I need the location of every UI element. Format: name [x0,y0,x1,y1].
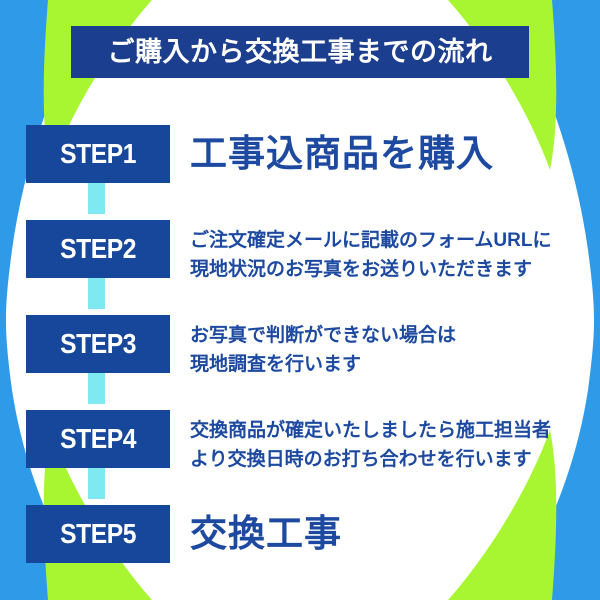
step-row-4: STEP4 交換商品が確定いたしましたら施工担当者 より交換日時のお打ち合わせを… [0,410,600,468]
step-description-line: 現地状況のお写真をお送りいただきます [190,255,551,284]
step-badge-label: STEP5 [60,520,136,548]
step-connector-4-5 [88,467,105,499]
step-badge-1: STEP1 [26,125,170,183]
step-row-5: STEP5 交換工事 [0,505,600,563]
step-description-5: 交換工事 [190,515,342,554]
step-row-1: STEP1 工事込商品を購入 [0,125,600,183]
step-badge-5: STEP5 [26,505,170,563]
step-description-4: 交換商品が確定いたしましたら施工担当者 より交換日時のお打ち合わせを行います [190,416,551,475]
flow-content: ご購入から交換工事までの流れ STEP1 工事込商品を購入 STEP2 ご注文確… [0,0,600,600]
step-description-line: ご注文確定メールに記載のフォームURLに [190,226,551,255]
step-description-2: ご注文確定メールに記載のフォームURLに 現地状況のお写真をお送りいただきます [190,226,551,285]
step-description-line: 交換工事 [190,515,342,554]
page-title: ご購入から交換工事までの流れ [108,39,493,66]
step-description-1: 工事込商品を購入 [190,135,494,174]
step-badge-2: STEP2 [26,220,170,278]
step-badge-label: STEP2 [60,235,136,263]
step-description-3: お写真で判断ができない場合は 現地調査を行います [190,321,456,380]
header-banner: ご購入から交換工事までの流れ [71,26,529,78]
step-connector-2-3 [88,277,105,309]
step-description-line: 現地調査を行います [190,350,456,379]
step-description-line: お写真で判断ができない場合は [190,321,456,350]
step-badge-3: STEP3 [26,315,170,373]
step-badge-label: STEP3 [60,330,136,358]
step-description-line: より交換日時のお打ち合わせを行います [190,445,551,474]
step-row-3: STEP3 お写真で判断ができない場合は 現地調査を行います [0,315,600,373]
purchase-to-installation-flow-infographic: ご購入から交換工事までの流れ STEP1 工事込商品を購入 STEP2 ご注文確… [0,0,600,600]
step-badge-label: STEP1 [60,140,136,168]
step-description-line: 工事込商品を購入 [190,135,494,174]
step-badge-4: STEP4 [26,410,170,468]
step-connector-3-4 [88,372,105,404]
step-connector-1-2 [88,182,105,214]
step-row-2: STEP2 ご注文確定メールに記載のフォームURLに 現地状況のお写真をお送りい… [0,220,600,278]
step-badge-label: STEP4 [60,425,136,453]
step-description-line: 交換商品が確定いたしましたら施工担当者 [190,416,551,445]
